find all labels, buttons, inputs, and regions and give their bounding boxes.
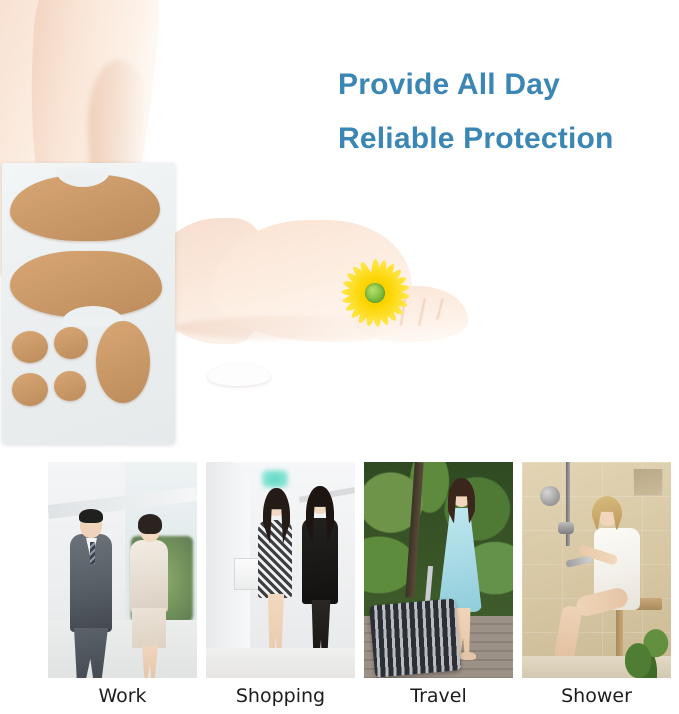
rolling-suitcase: [369, 598, 461, 677]
headline-line-2: Reliable Protection: [338, 112, 679, 166]
scenario-strip: Work Shopping: [48, 462, 668, 707]
bathroom-plant: [625, 620, 669, 678]
scenario-travel-photo: [364, 462, 513, 678]
scenario-travel: Travel: [364, 462, 513, 707]
shower-head-fixture: [558, 522, 574, 534]
small-round-pad-4: [54, 371, 86, 401]
shower-valve: [540, 486, 560, 506]
businesswoman-skirt: [132, 608, 166, 648]
flower-center: [365, 283, 385, 303]
scenario-work-photo: [48, 462, 197, 678]
mall-light: [262, 470, 288, 488]
scenario-shower-label: Shower: [522, 685, 671, 707]
small-round-pad-2: [54, 327, 88, 359]
businessman-hair: [79, 509, 103, 523]
daisy-flower: [338, 256, 412, 330]
scenario-shopping: Shopping: [206, 462, 355, 707]
scenario-work-label: Work: [48, 685, 197, 707]
scenario-shower: Shower: [522, 462, 671, 707]
headline: Provide All Day Reliable Protection: [338, 58, 679, 166]
garden-foliage: [364, 462, 513, 618]
businessman-tie: [90, 542, 95, 564]
hero-section: Provide All Day Reliable Protection: [0, 0, 679, 452]
scenario-travel-label: Travel: [364, 685, 513, 707]
traveler-shoe: [460, 652, 476, 660]
product-marketing-poster: Provide All Day Reliable Protection: [0, 0, 679, 714]
businesswoman-hair: [138, 514, 162, 534]
shopper-two-coat: [302, 518, 338, 604]
scenario-shopping-photo: [206, 462, 355, 678]
large-bone-pad-bottom: [10, 251, 162, 317]
scenario-shopping-label: Shopping: [206, 685, 355, 707]
large-oval-pad: [96, 321, 150, 403]
small-round-pad-3: [12, 373, 48, 406]
businesswoman-jacket: [130, 540, 168, 612]
scenario-shower-photo: [522, 462, 671, 678]
wall-niche: [633, 468, 663, 496]
large-bone-pad-top: [10, 175, 160, 241]
scenario-work: Work: [48, 462, 197, 707]
gel-pad-sheet: [2, 163, 175, 444]
shower-bench-leg: [616, 610, 623, 662]
small-round-pad-1: [12, 331, 48, 363]
applied-gel-pad: [208, 364, 270, 386]
headline-line-1: Provide All Day: [338, 58, 679, 112]
mall-floor: [206, 648, 355, 678]
